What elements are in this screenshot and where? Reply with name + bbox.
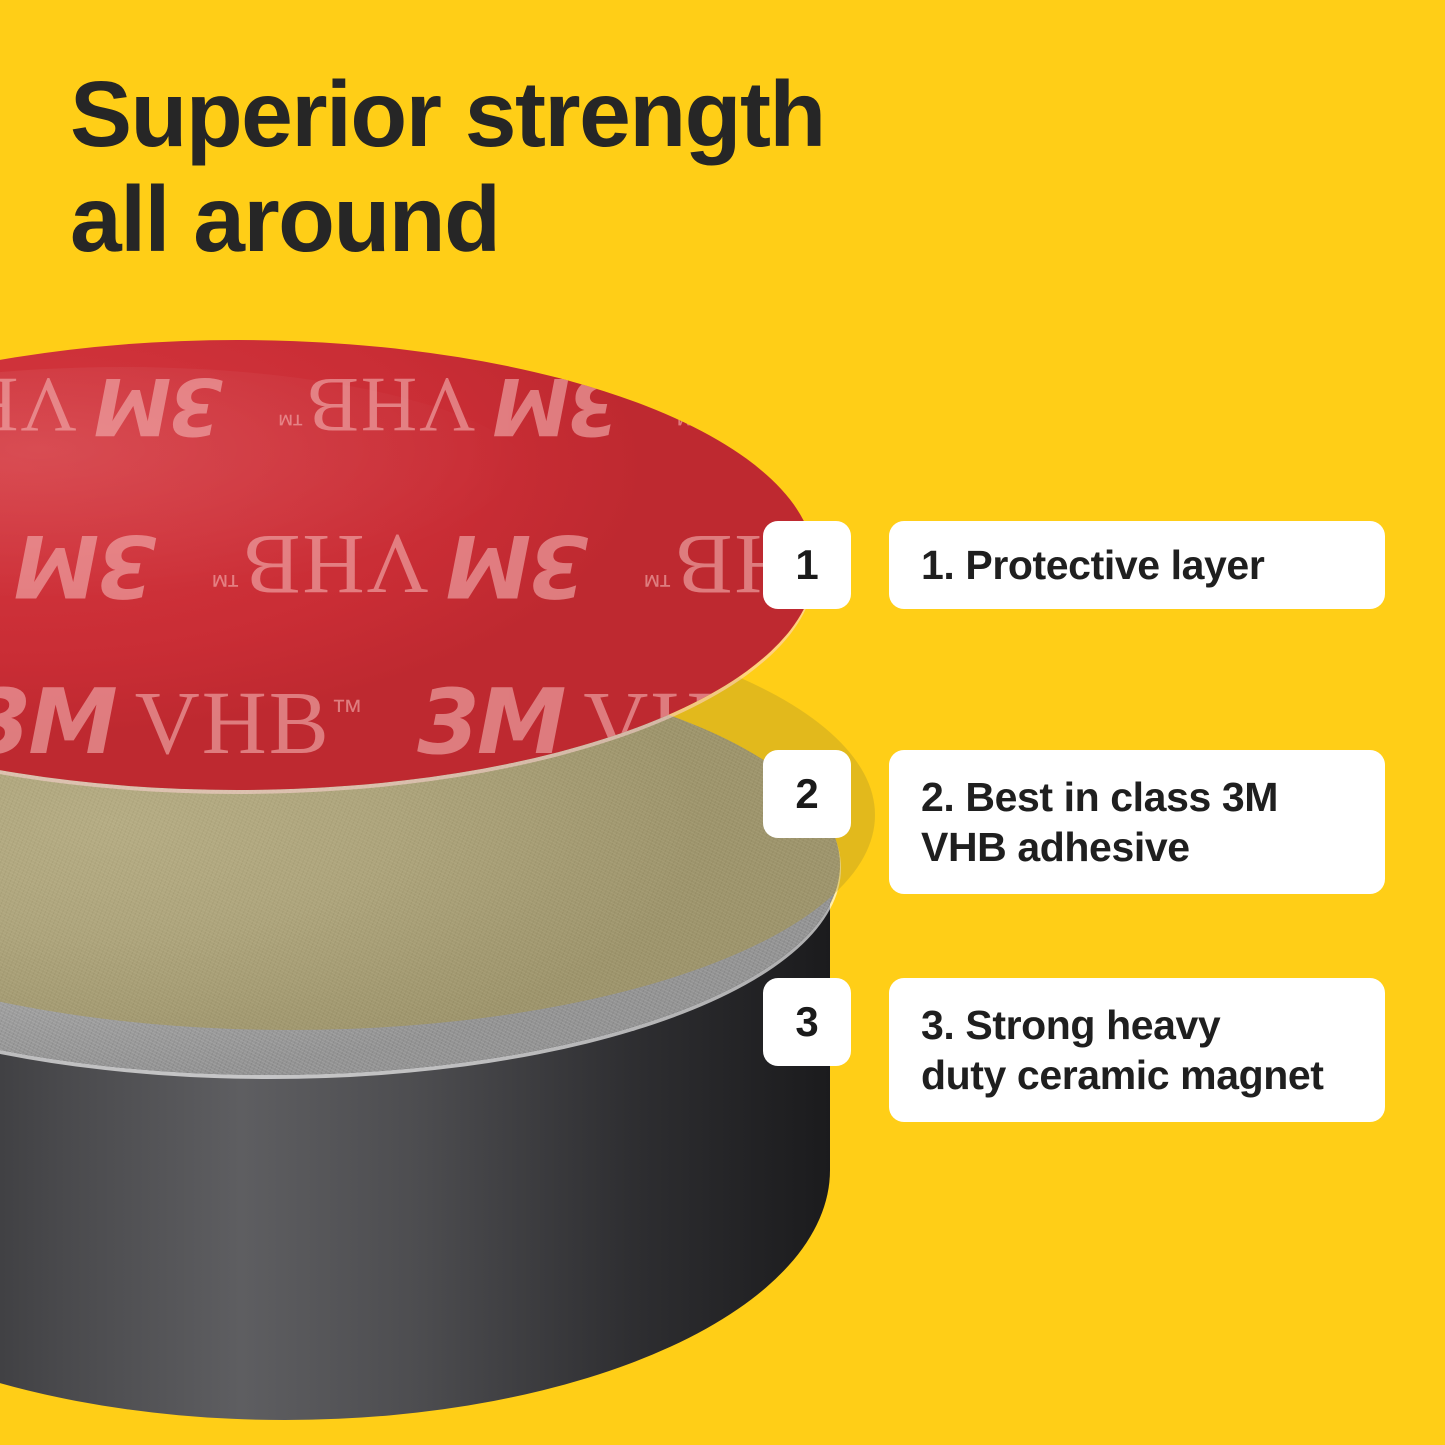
infographic-canvas: Superior strength all around 3MVHB™3MVHB… (0, 0, 1445, 1445)
watermark-product-vhb: VHB (305, 362, 476, 449)
vhb-watermark-unit: 3MVHB™ (0, 515, 156, 615)
watermark-brand-3m: 3M (97, 360, 223, 450)
watermark-product-vhb: VHB (703, 362, 815, 449)
watermark-trademark-icon: ™ (675, 400, 703, 431)
vhb-watermark-unit: 3MVHB™ (210, 515, 588, 615)
watermark-brand-3m: 3M (495, 360, 621, 450)
vhb-watermark-unit: 3MVHB™ (0, 360, 223, 451)
callout-1-label: 1. Protective layer (889, 521, 1385, 609)
watermark-product-vhb: VHB (0, 362, 77, 449)
watermark-trademark-icon: ™ (277, 400, 305, 431)
callout-3[interactable]: 3 3. Strong heavy duty ceramic magnet (763, 978, 1385, 1122)
protective-liner-disc: 3MVHB™3MVHB™3MVHB™3MVHB™3MVHB™3MVHB™3MVH… (0, 340, 815, 790)
vhb-watermark-row-3: 3MVHB™3MVHB™3MVHB™3MVHB™ (0, 670, 815, 775)
vhb-watermark-unit: 3MVHB™ (277, 360, 622, 451)
watermark-product-vhb: VHB (135, 674, 331, 773)
watermark-product-vhb: VHB (241, 517, 429, 613)
vhb-watermark-row-1: 3MVHB™3MVHB™3MVHB™3MVHB™ (0, 360, 815, 451)
watermark-brand-3m: 3M (0, 670, 115, 775)
watermark-brand-3m: 3M (417, 670, 563, 775)
watermark-product-vhb: VHB (583, 674, 779, 773)
callout-2-label: 2. Best in class 3M VHB adhesive (889, 750, 1385, 894)
watermark-trademark-icon: ™ (779, 693, 811, 729)
watermark-trademark-icon: ™ (642, 559, 673, 594)
callout-3-badge: 3 (763, 978, 851, 1066)
vhb-watermark-unit: 3MVHB™ (675, 360, 815, 451)
watermark-trademark-icon: ™ (210, 559, 241, 594)
watermark-brand-3m: 3M (17, 515, 156, 615)
watermark-trademark-icon: ™ (331, 693, 363, 729)
callout-3-label: 3. Strong heavy duty ceramic magnet (889, 978, 1385, 1122)
page-title: Superior strength all around (70, 62, 1070, 272)
callout-1[interactable]: 1 1. Protective layer (763, 521, 1385, 609)
callout-1-badge: 1 (763, 521, 851, 609)
callout-2-badge: 2 (763, 750, 851, 838)
vhb-watermark-row-2: 3MVHB™3MVHB™3MVHB™3MVHB™ (0, 515, 815, 615)
watermark-brand-3m: 3M (449, 515, 588, 615)
callout-2[interactable]: 2 2. Best in class 3M VHB adhesive (763, 750, 1385, 894)
vhb-watermark-unit: 3MVHB™ (417, 670, 812, 775)
vhb-watermark-unit: 3MVHB™ (0, 670, 363, 775)
